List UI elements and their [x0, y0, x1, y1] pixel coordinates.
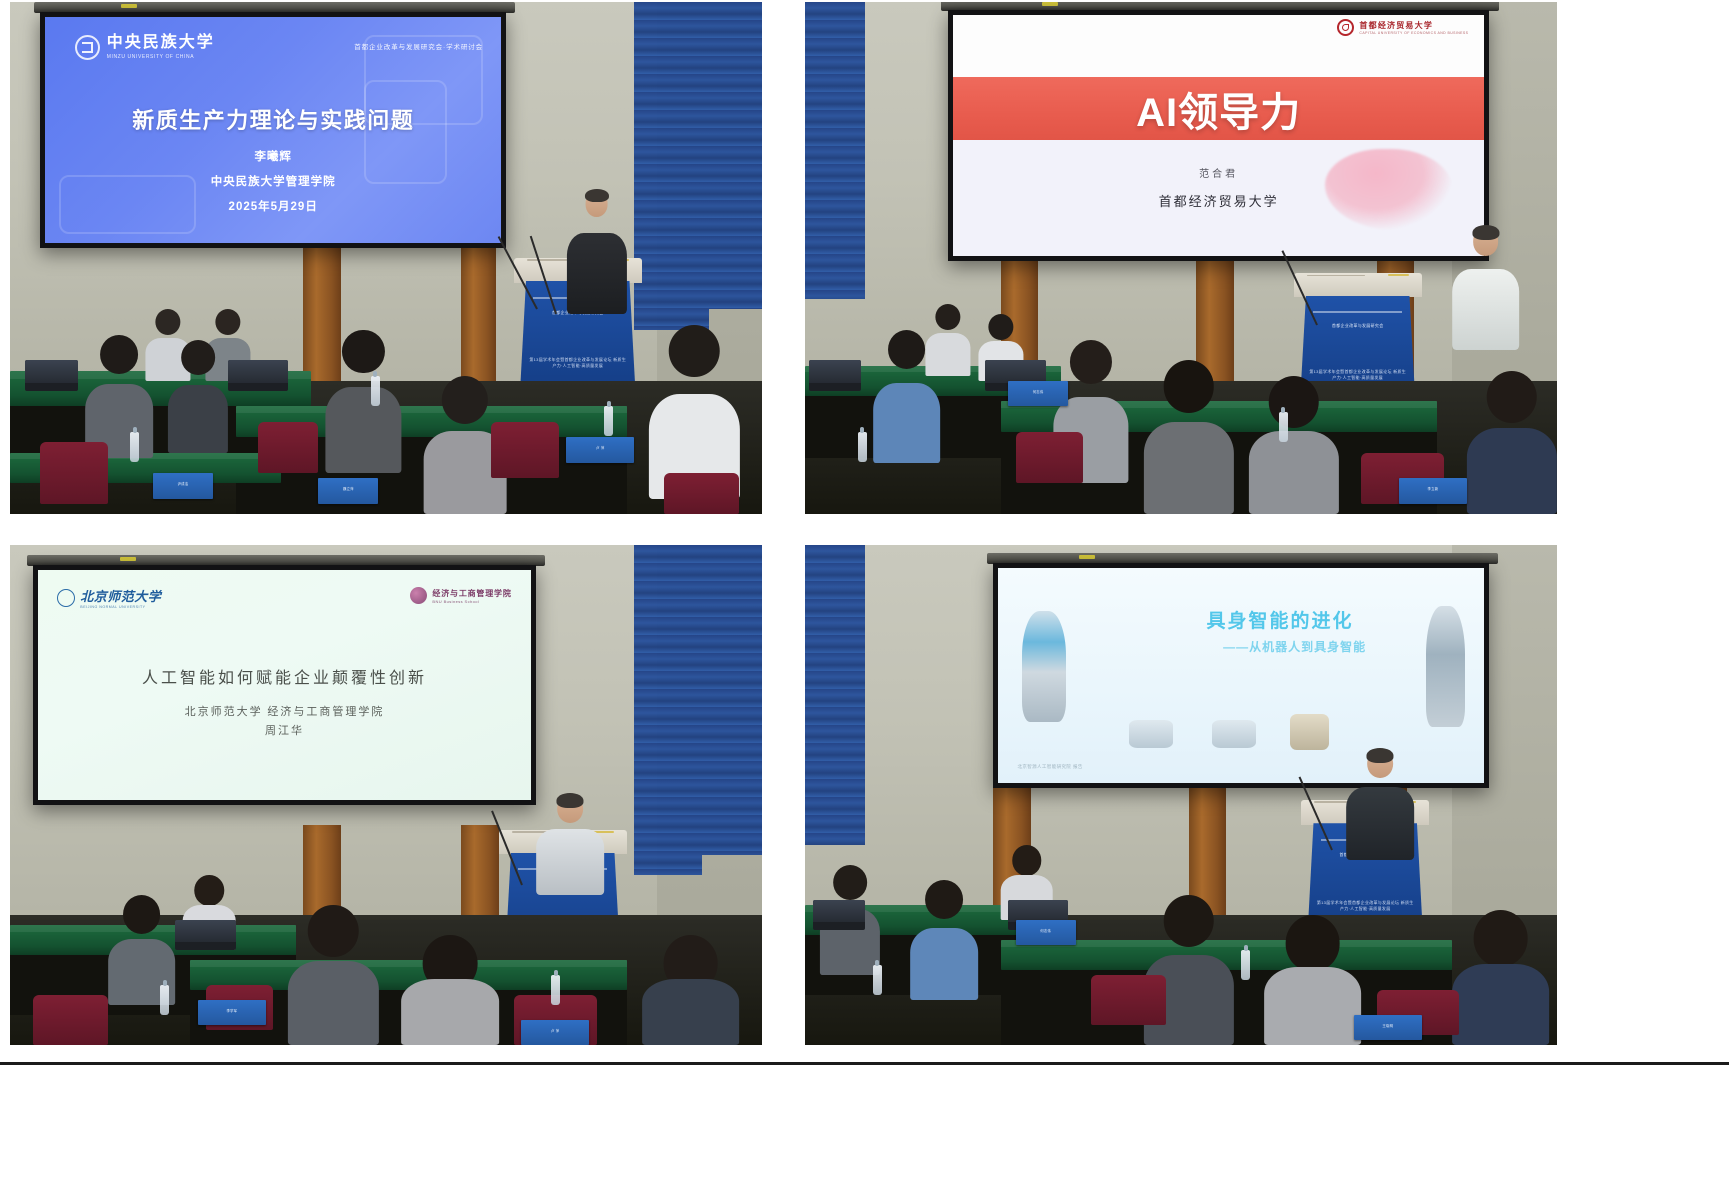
speaker-hair: [1472, 225, 1499, 240]
person-head: [925, 880, 963, 919]
nameplate-label: 王晓明: [1354, 1023, 1422, 1028]
university-seal-icon: [57, 589, 75, 607]
person-head: [123, 895, 161, 934]
speaker-hair: [585, 189, 609, 202]
projection-screen-1: 中央民族大学 MINZU UNIVERSITY OF CHINA 首都企业改革与…: [40, 12, 506, 248]
screen-surface: 中央民族大学 MINZU UNIVERSITY OF CHINA 首都企业改革与…: [40, 12, 506, 248]
person-body: [910, 928, 978, 1000]
slide-title: 人工智能如何赋能企业颠覆性创新: [38, 664, 532, 688]
slide-title: 具身智能的进化: [1124, 606, 1435, 633]
audience-member: [288, 905, 378, 1045]
chair: [1091, 975, 1166, 1025]
robot-arm-icon: [1290, 714, 1329, 751]
desk-nameplate: 李学军: [198, 1000, 266, 1025]
laptop-lid: [809, 360, 862, 382]
slide-presenter: 范合君: [953, 165, 1484, 180]
slide-title: AI领导力: [1136, 80, 1301, 138]
laptop: [175, 920, 235, 950]
audience-member: [873, 330, 941, 463]
slide-affiliation: 北京师范大学 经济与工商管理学院: [38, 703, 532, 719]
speaker-torso: [1452, 269, 1520, 350]
school-name-en: BNU Business School: [432, 599, 511, 604]
screen-surface: 首都经济贸易大学 CAPITAL UNIVERSITY OF ECONOMICS…: [948, 10, 1489, 261]
slide-date: 2025年5月29日: [45, 198, 501, 214]
conference-photo-4: 具身智能的进化 ——从机器人到具身智能 北京智源人工智能研究院 报告 首都企业改…: [805, 545, 1557, 1045]
audience-member: [85, 335, 153, 458]
speaker-4: [1346, 750, 1414, 860]
chair: [40, 442, 108, 503]
university-seal-icon: [1337, 19, 1354, 36]
laptop: [813, 900, 866, 930]
person-body: [326, 387, 401, 473]
speaker-hair: [1367, 748, 1394, 763]
slide-footnote: 北京智源人工智能研究院 报告: [1017, 764, 1082, 770]
school-mark-icon: [410, 587, 427, 604]
slide-subtitle: ——从机器人到具身智能: [1144, 638, 1446, 655]
audience-member: [1143, 360, 1233, 514]
speaker-torso: [1346, 787, 1414, 860]
wood-column: [461, 238, 496, 392]
laptop-lid: [985, 360, 1045, 382]
person-head: [442, 376, 488, 424]
water-bottle: [130, 432, 139, 462]
person-head: [100, 335, 138, 374]
person-body: [1264, 967, 1362, 1045]
nameplate-label: 李立新: [1399, 486, 1467, 491]
audience-member: [1264, 915, 1362, 1045]
slide-2: 首都经济贸易大学 CAPITAL UNIVERSITY OF ECONOMICS…: [953, 15, 1484, 256]
person-head: [1487, 371, 1538, 423]
figure-page: 中央民族大学 MINZU UNIVERSITY OF CHINA 首都企业改革与…: [0, 0, 1729, 1177]
person-head: [1473, 910, 1528, 967]
projection-screen-2: 首都经济贸易大学 CAPITAL UNIVERSITY OF ECONOMICS…: [948, 10, 1489, 261]
speaker-torso: [566, 233, 626, 314]
laptop-lid: [175, 920, 235, 942]
water-bottle: [1241, 950, 1250, 980]
robot-dog-icon: [1212, 720, 1256, 748]
screen-surface: 北京师范大学 BEIJING NORMAL UNIVERSITY 经济与工商管理…: [33, 565, 537, 805]
slide-affiliation: 中央民族大学管理学院: [45, 173, 501, 189]
lecture-room-1: 中央民族大学 MINZU UNIVERSITY OF CHINA 首都企业改革与…: [10, 2, 762, 514]
person-body: [288, 961, 378, 1045]
person-head: [935, 304, 960, 330]
speaker-hair: [557, 793, 584, 808]
water-bottle: [371, 376, 380, 406]
podium-plate: [1307, 275, 1366, 276]
person-head: [155, 309, 180, 335]
nameplate-label: 魏立萍: [318, 486, 378, 491]
person-head: [308, 905, 359, 957]
water-bottle: [551, 975, 560, 1005]
person-head: [1269, 376, 1320, 428]
university-name-en: CAPITAL UNIVERSITY OF ECONOMICS AND BUSI…: [1359, 31, 1468, 35]
slide-presenter: 李曦辉: [45, 148, 501, 164]
person-body: [1249, 431, 1339, 514]
page-bottom-rule: [0, 1062, 1729, 1065]
slide-title-band: AI领导力: [953, 77, 1484, 140]
desk-nameplate: 王晓明: [1354, 1015, 1422, 1040]
water-bottle: [873, 965, 882, 995]
slide-affiliation: 首都经济贸易大学: [953, 191, 1484, 210]
acoustic-panel: [634, 2, 709, 330]
humanoid-robot-icon: [1022, 611, 1066, 723]
person-body: [401, 979, 499, 1045]
acoustic-panel: [805, 2, 865, 299]
chair: [258, 422, 318, 473]
laptop-lid: [228, 360, 288, 382]
university-seal-icon: [75, 35, 100, 60]
podium-badge: [1388, 274, 1408, 276]
laptop: [809, 360, 862, 391]
laptop: [25, 360, 78, 391]
chair: [664, 473, 739, 514]
water-bottle: [1279, 412, 1288, 442]
podium-top: [1294, 273, 1422, 297]
person-head: [181, 340, 215, 375]
photo-grid: 中央民族大学 MINZU UNIVERSITY OF CHINA 首都企业改革与…: [0, 0, 1729, 1160]
water-bottle: [604, 406, 613, 436]
conference-photo-2: 首都经济贸易大学 CAPITAL UNIVERSITY OF ECONOMICS…: [805, 2, 1557, 514]
speaker-2: [1452, 227, 1520, 350]
nameplate-label: 何志伟: [1016, 928, 1076, 933]
speaker-1: [566, 191, 626, 314]
nameplate-label: 李学军: [198, 1008, 266, 1013]
slide-1: 中央民族大学 MINZU UNIVERSITY OF CHINA 首都企业改革与…: [45, 17, 501, 243]
school-logo-block: 经济与工商管理学院 BNU Business School: [410, 587, 511, 604]
person-head: [988, 314, 1013, 340]
acoustic-panel: [805, 545, 865, 845]
nameplate-label: 何志伟: [1008, 389, 1068, 394]
robot-dog-icon: [1129, 720, 1173, 748]
laptop-lid: [25, 360, 78, 382]
water-bottle: [858, 432, 867, 462]
audience-member: [910, 880, 978, 1000]
podium-banner-line-1: 首都企业改革与发展研究会: [1313, 323, 1402, 329]
nameplate-label: 尹成洁: [153, 481, 213, 486]
person-head: [888, 330, 926, 369]
audience-member: [326, 330, 401, 473]
university-name-cn: 中央民族大学: [107, 35, 215, 51]
person-head: [195, 875, 224, 906]
slide-header-right: 首都企业改革与发展研究会·学术研讨会: [354, 41, 483, 51]
audience-member: [1452, 910, 1550, 1045]
projection-screen-3: 北京师范大学 BEIJING NORMAL UNIVERSITY 经济与工商管理…: [33, 565, 537, 805]
desk-nameplate: 卢 萍: [521, 1020, 589, 1045]
audience-member: [1249, 376, 1339, 514]
speaker-3: [536, 795, 604, 895]
desk-nameplate: 卢 萍: [566, 437, 634, 463]
audience-member: [642, 935, 740, 1045]
projection-screen-4: 具身智能的进化 ——从机器人到具身智能 北京智源人工智能研究院 报告: [993, 563, 1489, 788]
lecture-room-2: 首都经济贸易大学 CAPITAL UNIVERSITY OF ECONOMICS…: [805, 2, 1557, 514]
person-body: [873, 383, 941, 463]
slide-title: 新质生产力理论与实践问题: [45, 103, 501, 135]
slide-decoration: [1325, 149, 1453, 230]
chair: [33, 995, 108, 1045]
slide-presenter: 周江华: [38, 722, 532, 738]
chair: [491, 422, 559, 478]
speaker-torso: [536, 829, 604, 895]
person-head: [669, 325, 720, 377]
conference-photo-3: 北京师范大学 BEIJING NORMAL UNIVERSITY 经济与工商管理…: [10, 545, 762, 1045]
person-body: [1467, 428, 1557, 514]
person-head: [215, 309, 240, 335]
slide-body: 范合君 首都经济贸易大学: [953, 140, 1484, 256]
podium-banner-line-2: 第13届学术年会暨首都企业改革与发展论坛 新质生产力·人工智能·高质量发展: [1316, 900, 1415, 913]
university-logo-block: 首都经济贸易大学 CAPITAL UNIVERSITY OF ECONOMICS…: [1337, 19, 1468, 36]
acoustic-panel: [702, 545, 762, 855]
slide-3: 北京师范大学 BEIJING NORMAL UNIVERSITY 经济与工商管理…: [38, 570, 532, 800]
audience-member: [1467, 371, 1557, 514]
desk-nameplate: 魏立萍: [318, 478, 378, 504]
university-name-cn: 首都经济贸易大学: [1359, 20, 1468, 31]
school-name-cn: 经济与工商管理学院: [432, 588, 511, 599]
desk-nameplate: 何志伟: [1016, 920, 1076, 945]
person-body: [642, 979, 740, 1045]
podium-banner-line-2: 第13届学术年会暨首都企业改革与发展论坛 新质生产力·人工智能·高质量发展: [528, 357, 627, 370]
lecture-room-3: 北京师范大学 BEIJING NORMAL UNIVERSITY 经济与工商管理…: [10, 545, 762, 1045]
person-head: [1285, 915, 1340, 972]
person-head: [342, 330, 384, 374]
person-head: [833, 865, 867, 900]
acoustic-panel: [709, 2, 762, 309]
slide-header-area: 首都经济贸易大学 CAPITAL UNIVERSITY OF ECONOMICS…: [953, 15, 1484, 78]
nameplate-label: 卢 萍: [521, 1028, 589, 1033]
university-logo-block: 北京师范大学 BEIJING NORMAL UNIVERSITY: [57, 586, 161, 609]
laptop-lid: [1008, 900, 1068, 922]
person-body: [1143, 422, 1233, 514]
person-body: [1452, 964, 1550, 1045]
desk-nameplate: 何志伟: [1008, 381, 1068, 407]
university-logo-block: 中央民族大学 MINZU UNIVERSITY OF CHINA: [75, 35, 215, 60]
audience-member: [168, 340, 228, 453]
acoustic-panel: [634, 545, 702, 875]
person-head: [1163, 895, 1214, 947]
person-head: [1070, 340, 1112, 384]
screen-surface: 具身智能的进化 ——从机器人到具身智能 北京智源人工智能研究院 报告: [993, 563, 1489, 788]
university-name-cn: 北京师范大学: [80, 586, 161, 605]
laptop: [228, 360, 288, 391]
desk-nameplate: 尹成洁: [153, 473, 213, 499]
laptop-lid: [813, 900, 866, 922]
university-name-en: BEIJING NORMAL UNIVERSITY: [80, 605, 161, 609]
nameplate-label: 卢 萍: [566, 445, 634, 450]
chair: [1016, 432, 1084, 483]
water-bottle: [160, 985, 169, 1015]
lecture-room-4: 具身智能的进化 ——从机器人到具身智能 北京智源人工智能研究院 报告 首都企业改…: [805, 545, 1557, 1045]
person-head: [1163, 360, 1214, 412]
person-body: [168, 385, 228, 453]
audience-member: [401, 935, 499, 1045]
person-head: [1012, 845, 1041, 876]
university-name-en: MINZU UNIVERSITY OF CHINA: [107, 54, 215, 60]
desk-nameplate: 李立新: [1399, 478, 1467, 504]
conference-photo-1: 中央民族大学 MINZU UNIVERSITY OF CHINA 首都企业改革与…: [10, 2, 762, 514]
